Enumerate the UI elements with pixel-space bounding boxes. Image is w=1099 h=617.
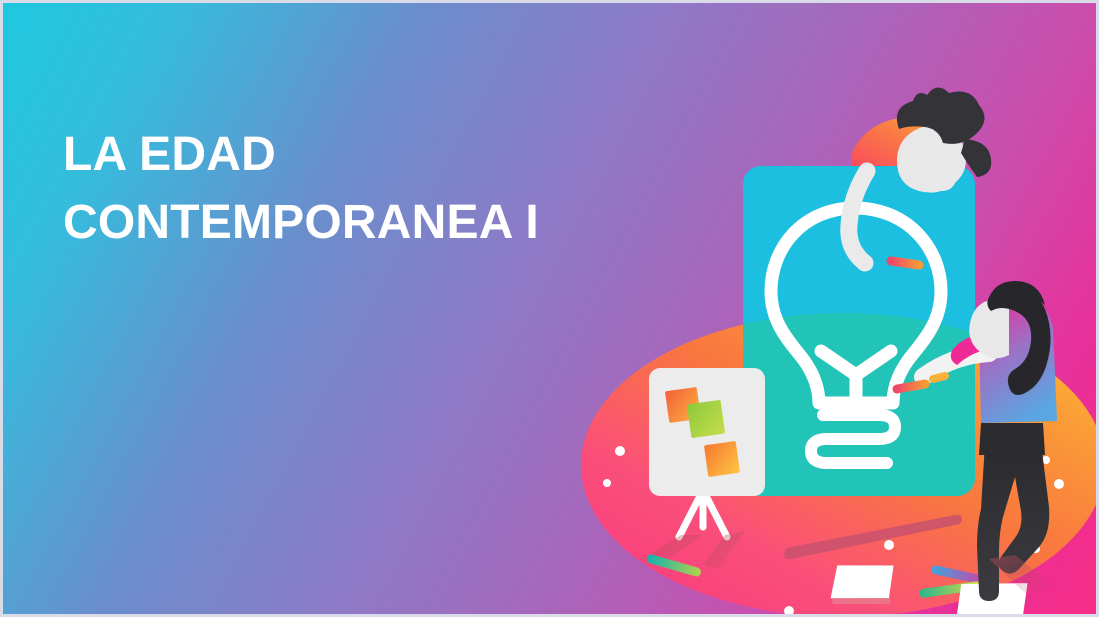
page-title: LA EDAD CONTEMPORANEA I (63, 121, 703, 257)
slide-canvas: LA EDAD CONTEMPORANEA I (0, 0, 1099, 617)
title-line-1: LA EDAD (63, 121, 703, 189)
title-line-2: CONTEMPORANEA I (63, 189, 703, 257)
slide-background-gradient (3, 3, 1096, 614)
